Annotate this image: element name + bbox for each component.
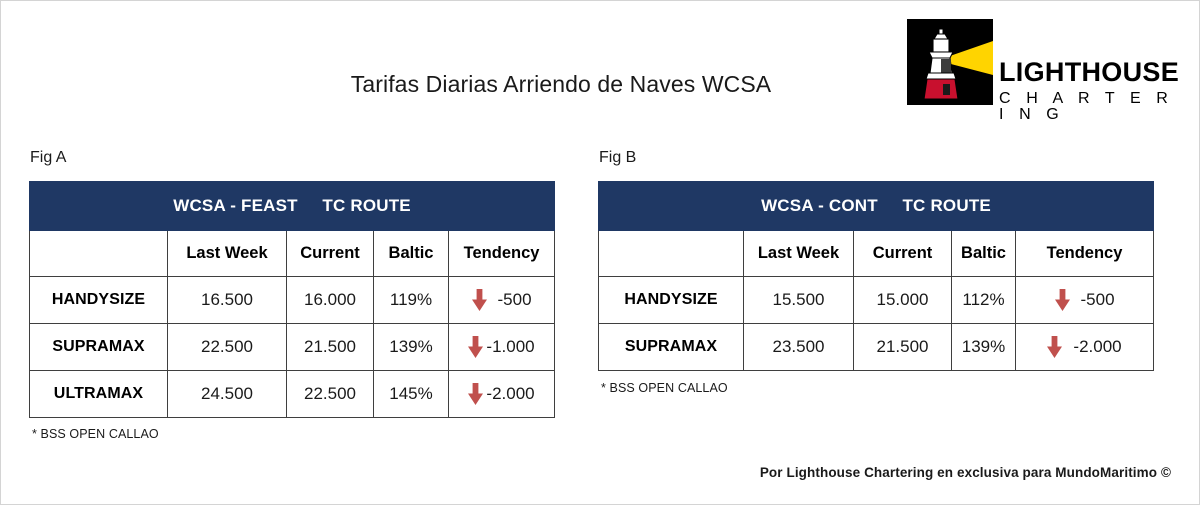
table-row: SUPRAMAX 23.500 21.500 139% -2.000 <box>599 324 1154 371</box>
table-fig-a: WCSA - FEAST TC ROUTE Last Week Current … <box>29 181 555 418</box>
footnote-fig-a: * BSS OPEN CALLAO <box>32 427 159 441</box>
arrow-down-icon <box>468 383 483 405</box>
cell-current: 15.000 <box>854 277 952 324</box>
cell-last-week: 16.500 <box>168 277 287 324</box>
col-header-tendency: Tendency <box>449 231 555 277</box>
cell-tendency: -500 <box>449 277 555 324</box>
footnote-fig-b: * BSS OPEN CALLAO <box>601 381 728 395</box>
logo-wordmark: LIGHTHOUSE C H A R T E R I N G <box>999 59 1179 123</box>
table-row: HANDYSIZE 15.500 15.000 112% -500 <box>599 277 1154 324</box>
cell-tendency: -2.000 <box>449 371 555 418</box>
row-label-supramax: SUPRAMAX <box>599 324 744 371</box>
cell-baltic: 119% <box>374 277 449 324</box>
cell-tendency: -2.000 <box>1016 324 1154 371</box>
cell-baltic: 139% <box>374 324 449 371</box>
col-header-vessel <box>30 231 168 277</box>
arrow-down-icon <box>1055 289 1070 311</box>
lighthouse-icon <box>907 19 993 105</box>
cell-baltic: 112% <box>952 277 1016 324</box>
cell-current: 22.500 <box>287 371 374 418</box>
cell-current: 16.000 <box>287 277 374 324</box>
slide-canvas: Tarifas Diarias Arriendo de Naves WCSA <box>0 0 1200 505</box>
cell-tendency: -1.000 <box>449 324 555 371</box>
table-a-band-title: WCSA - FEAST TC ROUTE <box>30 182 555 231</box>
row-label-ultramax: ULTRAMAX <box>30 371 168 418</box>
table-header-band-row: WCSA - FEAST TC ROUTE <box>30 182 555 231</box>
col-header-tendency: Tendency <box>1016 231 1154 277</box>
table-header-band-row: WCSA - CONT TC ROUTE <box>599 182 1154 231</box>
col-header-baltic: Baltic <box>374 231 449 277</box>
band-title-text: WCSA - FEAST TC ROUTE <box>30 196 554 216</box>
table-column-header-row: Last Week Current Baltic Tendency <box>30 231 555 277</box>
lighthouse-chartering-logo: LIGHTHOUSE C H A R T E R I N G <box>907 19 1179 105</box>
logo-word-chartering: C H A R T E R I N G <box>999 91 1179 123</box>
cell-tendency-value: -1.000 <box>486 337 534 357</box>
arrow-down-icon <box>468 336 483 358</box>
page-title: Tarifas Diarias Arriendo de Naves WCSA <box>261 71 861 98</box>
cell-last-week: 23.500 <box>744 324 854 371</box>
cell-baltic: 139% <box>952 324 1016 371</box>
col-header-vessel <box>599 231 744 277</box>
fig-b-label: Fig B <box>599 149 636 167</box>
cell-tendency-value: -500 <box>498 290 532 310</box>
cell-baltic: 145% <box>374 371 449 418</box>
cell-last-week: 15.500 <box>744 277 854 324</box>
cell-last-week: 24.500 <box>168 371 287 418</box>
cell-current: 21.500 <box>287 324 374 371</box>
band-title-text: WCSA - CONT TC ROUTE <box>599 196 1153 216</box>
col-header-last-week: Last Week <box>168 231 287 277</box>
cell-current: 21.500 <box>854 324 952 371</box>
col-header-last-week: Last Week <box>744 231 854 277</box>
arrow-down-icon <box>472 289 487 311</box>
fig-a-label: Fig A <box>30 149 66 167</box>
table-row: HANDYSIZE 16.500 16.000 119% -500 <box>30 277 555 324</box>
table-b-band-title: WCSA - CONT TC ROUTE <box>599 182 1154 231</box>
cell-tendency-value: -500 <box>1081 290 1115 310</box>
table-column-header-row: Last Week Current Baltic Tendency <box>599 231 1154 277</box>
table-fig-b: WCSA - CONT TC ROUTE Last Week Current B… <box>598 181 1154 371</box>
cell-last-week: 22.500 <box>168 324 287 371</box>
arrow-down-icon <box>1047 336 1062 358</box>
row-label-supramax: SUPRAMAX <box>30 324 168 371</box>
credit-line: Por Lighthouse Chartering en exclusiva p… <box>760 465 1171 480</box>
cell-tendency: -500 <box>1016 277 1154 324</box>
col-header-current: Current <box>854 231 952 277</box>
table-row: SUPRAMAX 22.500 21.500 139% -1.000 <box>30 324 555 371</box>
cell-tendency-value: -2.000 <box>1073 337 1121 357</box>
row-label-handysize: HANDYSIZE <box>599 277 744 324</box>
row-label-handysize: HANDYSIZE <box>30 277 168 324</box>
col-header-baltic: Baltic <box>952 231 1016 277</box>
logo-word-lighthouse: LIGHTHOUSE <box>999 59 1179 86</box>
col-header-current: Current <box>287 231 374 277</box>
cell-tendency-value: -2.000 <box>486 384 534 404</box>
table-row: ULTRAMAX 24.500 22.500 145% -2.000 <box>30 371 555 418</box>
